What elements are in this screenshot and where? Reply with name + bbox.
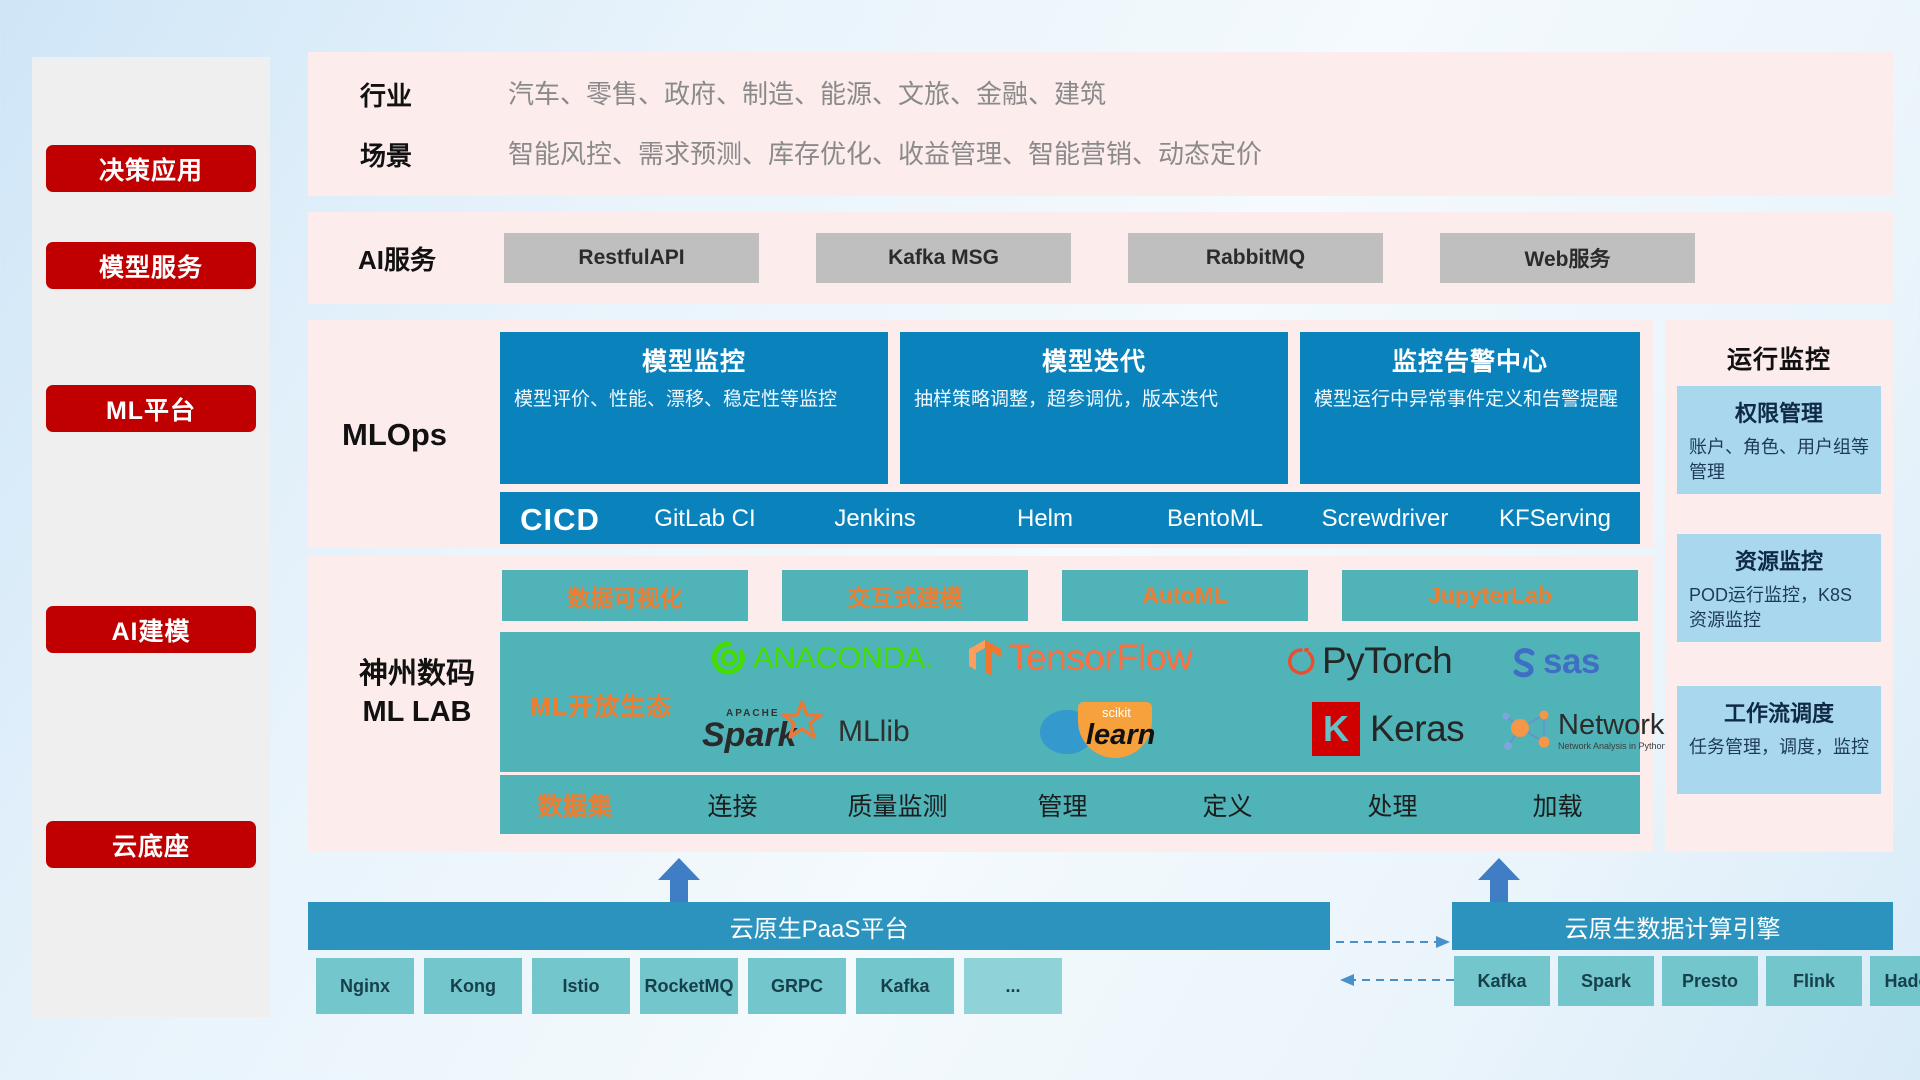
cicd-item-bentoml[interactable]: BentoML <box>1130 492 1300 534</box>
monitoring-card-workflow[interactable]: 工作流调度 任务管理，调度，监控 <box>1677 686 1881 794</box>
cloud-chip-kafka[interactable]: Kafka <box>856 958 954 1014</box>
left-rail: 决策应用 模型服务 ML平台 AI建模 云底座 <box>32 57 270 1017</box>
mlops-card-desc: 模型评价、性能、漂移、稳定性等监控 <box>514 387 874 413</box>
mlops-card-title: 监控告警中心 <box>1314 342 1626 378</box>
mlops-card-title: 模型监控 <box>514 342 874 378</box>
cloud-chip-nginx[interactable]: Nginx <box>316 958 414 1014</box>
cloud-chip-presto[interactable]: Presto <box>1662 956 1758 1006</box>
ml-lab-label-line1: 神州数码 <box>332 656 502 694</box>
spark-mllib-logo: APACHE Spark MLlib <box>702 704 910 760</box>
cloud-chip-kong[interactable]: Kong <box>424 958 522 1014</box>
svc-chip-rabbitmq[interactable]: RabbitMQ <box>1128 233 1383 283</box>
anaconda-logo: ANACONDA. <box>712 640 933 676</box>
mllib-logo-text: MLlib <box>838 715 910 749</box>
monitoring-card-desc: 账户、角色、用户组等管理 <box>1689 435 1869 485</box>
rail-item-ml-platform[interactable]: ML平台 <box>46 385 256 432</box>
diagram-root: 决策应用 模型服务 ML平台 AI建模 云底座 行业 汽车、零售、政府、制造、能… <box>0 0 1920 1080</box>
pytorch-logo-text: PyTorch <box>1322 640 1452 682</box>
cloud-chip-rocketmq[interactable]: RocketMQ <box>640 958 738 1014</box>
cloud-chip-kafka-right[interactable]: Kafka <box>1454 956 1550 1006</box>
ml-lab-label-line2: ML LAB <box>332 694 502 732</box>
rail-item-ai-modeling[interactable]: AI建模 <box>46 606 256 653</box>
keras-logo: K Keras <box>1312 702 1464 756</box>
sas-logo-text: sas <box>1543 642 1600 682</box>
dataset-label: 数据集 <box>500 787 650 823</box>
dataset-band: 数据集 连接 质量监测 管理 定义 处理 加载 <box>500 772 1640 834</box>
industry-band: 行业 汽车、零售、政府、制造、能源、文旅、金融、建筑 场景 智能风控、需求预测、… <box>308 52 1893 196</box>
mlops-card-alert-center[interactable]: 监控告警中心 模型运行中异常事件定义和告警提醒 <box>1300 332 1640 484</box>
svc-chip-kafka-msg[interactable]: Kafka MSG <box>816 233 1071 283</box>
cloud-chip-spark[interactable]: Spark <box>1558 956 1654 1006</box>
ml-eco-band: ML开放生态 ANACONDA. TensorF <box>500 632 1640 772</box>
mlops-label: MLOps <box>342 410 502 460</box>
monitoring-title: 运行监控 <box>1665 340 1893 376</box>
dataset-item-connect[interactable]: 连接 <box>650 787 815 823</box>
monitoring-column: 运行监控 权限管理 账户、角色、用户组等管理 资源监控 POD运行监控，K8S资… <box>1665 320 1893 852</box>
monitoring-card-permission[interactable]: 权限管理 账户、角色、用户组等管理 <box>1677 386 1881 494</box>
tool-chip-automl[interactable]: AutoML <box>1060 568 1310 623</box>
dataset-item-process[interactable]: 处理 <box>1310 787 1475 823</box>
dashed-connector-icon <box>1336 930 1454 990</box>
tool-chip-jupyterlab[interactable]: JupyterLab <box>1340 568 1640 623</box>
rail-item-model-service[interactable]: 模型服务 <box>46 242 256 289</box>
mlops-card-desc: 抽样策略调整，超参调优，版本迭代 <box>914 387 1274 413</box>
ml-eco-label: ML开放生态 <box>530 687 672 723</box>
cicd-label: CICD <box>500 492 620 538</box>
cloud-chip-grpc[interactable]: GRPC <box>748 958 846 1014</box>
ai-service-label: AI服务 <box>358 234 498 282</box>
cloud-paas-header: 云原生PaaS平台 <box>308 902 1330 950</box>
mlops-card-title: 模型迭代 <box>914 342 1274 378</box>
cicd-item-kfserving[interactable]: KFServing <box>1470 492 1640 534</box>
industry-label: 行业 <box>360 70 470 118</box>
monitoring-card-resource[interactable]: 资源监控 POD运行监控，K8S资源监控 <box>1677 534 1881 642</box>
networkx-logo: NetworkX Network Analysis in Python <box>1500 706 1684 756</box>
monitoring-card-title: 工作流调度 <box>1689 696 1869 728</box>
ai-service-band: AI服务 RestfulAPI Kafka MSG RabbitMQ Web服务 <box>308 212 1893 304</box>
cloud-chip-hadoop[interactable]: Hadoop <box>1870 956 1920 1006</box>
rail-item-cloud-base[interactable]: 云底座 <box>46 821 256 868</box>
cicd-item-gitlab-ci[interactable]: GitLab CI <box>620 492 790 534</box>
cloud-chip-more-left[interactable]: ... <box>964 958 1062 1014</box>
keras-k-text: K <box>1323 708 1349 750</box>
monitoring-card-desc: POD运行监控，K8S资源监控 <box>1689 583 1869 633</box>
pytorch-logo: PyTorch <box>1286 640 1452 682</box>
tensorflow-logo: TensorFlow <box>968 637 1192 679</box>
scikit-text: scikit <box>1102 705 1131 720</box>
monitoring-card-title: 资源监控 <box>1689 544 1869 576</box>
ml-lab-band: 神州数码 ML LAB 数据可视化 交互式建模 AutoML JupyterLa… <box>308 556 1653 852</box>
cloud-chip-istio[interactable]: Istio <box>532 958 630 1014</box>
rail-item-decision-app[interactable]: 决策应用 <box>46 145 256 192</box>
svc-chip-restfulapi[interactable]: RestfulAPI <box>504 233 759 283</box>
dataset-item-define[interactable]: 定义 <box>1145 787 1310 823</box>
anaconda-logo-text: ANACONDA. <box>753 640 933 676</box>
scenario-value: 智能风控、需求预测、库存优化、收益管理、智能营销、动态定价 <box>508 134 1262 171</box>
dataset-item-quality[interactable]: 质量监测 <box>815 787 980 823</box>
tool-chip-interactive-modeling[interactable]: 交互式建模 <box>780 568 1030 623</box>
cicd-item-jenkins[interactable]: Jenkins <box>790 492 960 534</box>
monitoring-card-desc: 任务管理，调度，监控 <box>1689 735 1869 760</box>
cicd-item-screwdriver[interactable]: Screwdriver <box>1300 492 1470 534</box>
cicd-bar: CICD GitLab CI Jenkins Helm BentoML Scre… <box>500 492 1640 544</box>
industry-value: 汽车、零售、政府、制造、能源、文旅、金融、建筑 <box>508 74 1106 111</box>
ml-lab-label: 神州数码 ML LAB <box>332 656 502 731</box>
mlops-card-model-monitoring[interactable]: 模型监控 模型评价、性能、漂移、稳定性等监控 <box>500 332 888 484</box>
learn-text: learn <box>1086 719 1155 752</box>
keras-logo-text: Keras <box>1370 708 1464 750</box>
tensorflow-logo-text: TensorFlow <box>1008 637 1192 679</box>
mlops-band: MLOps 模型监控 模型评价、性能、漂移、稳定性等监控 模型迭代 抽样策略调整… <box>308 320 1653 548</box>
scikit-learn-logo: scikit learn <box>1040 702 1200 762</box>
cicd-item-helm[interactable]: Helm <box>960 492 1130 534</box>
tool-chip-data-visualization[interactable]: 数据可视化 <box>500 568 750 623</box>
scenario-label: 场景 <box>360 130 470 178</box>
cloud-chip-flink[interactable]: Flink <box>1766 956 1862 1006</box>
sas-logo: sas <box>1508 642 1600 682</box>
monitoring-card-title: 权限管理 <box>1689 396 1869 428</box>
mlops-card-desc: 模型运行中异常事件定义和告警提醒 <box>1314 387 1626 413</box>
cloud-data-engine-header: 云原生数据计算引擎 <box>1452 902 1893 950</box>
dataset-item-load[interactable]: 加载 <box>1475 787 1640 823</box>
svc-chip-web-service[interactable]: Web服务 <box>1440 233 1695 283</box>
mlops-card-model-iteration[interactable]: 模型迭代 抽样策略调整，超参调优，版本迭代 <box>900 332 1288 484</box>
dataset-item-manage[interactable]: 管理 <box>980 787 1145 823</box>
main-column: 行业 汽车、零售、政府、制造、能源、文旅、金融、建筑 场景 智能风控、需求预测、… <box>308 0 1893 1080</box>
